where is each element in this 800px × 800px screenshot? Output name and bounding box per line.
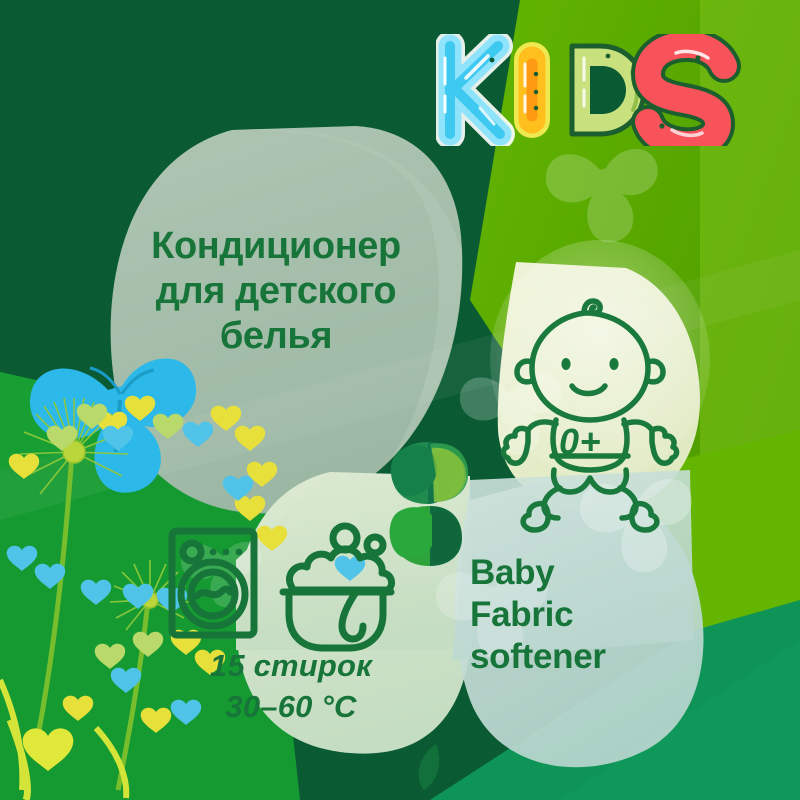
product-title-en-line-2: Fabric bbox=[470, 594, 700, 636]
age-badge: 0+ bbox=[500, 424, 660, 460]
product-title-ru-line-1: Кондиционер bbox=[96, 224, 456, 269]
product-title-ru-line-3: белья bbox=[96, 314, 456, 359]
product-title-ru-line-2: для детского bbox=[96, 269, 456, 314]
kids-letter-i bbox=[525, 60, 538, 120]
product-title-en-line-1: Baby bbox=[470, 552, 700, 594]
kids-letter-s bbox=[648, 45, 724, 144]
wash-count: 15 стирок bbox=[146, 645, 436, 686]
wash-info: 15 стирок 30–60 °C bbox=[146, 645, 436, 727]
product-poster: Кондиционер для детского белья 0+ 15 сти… bbox=[0, 0, 800, 800]
product-title-en-line-3: softener bbox=[470, 636, 700, 678]
kids-logo-letters bbox=[436, 34, 756, 146]
product-title-en: Baby Fabric softener bbox=[470, 552, 700, 678]
kids-letter-k bbox=[445, 46, 500, 134]
wash-temperature: 30–60 °C bbox=[146, 686, 436, 727]
product-title-ru: Кондиционер для детского белья bbox=[96, 224, 456, 358]
kids-logo bbox=[436, 34, 756, 146]
